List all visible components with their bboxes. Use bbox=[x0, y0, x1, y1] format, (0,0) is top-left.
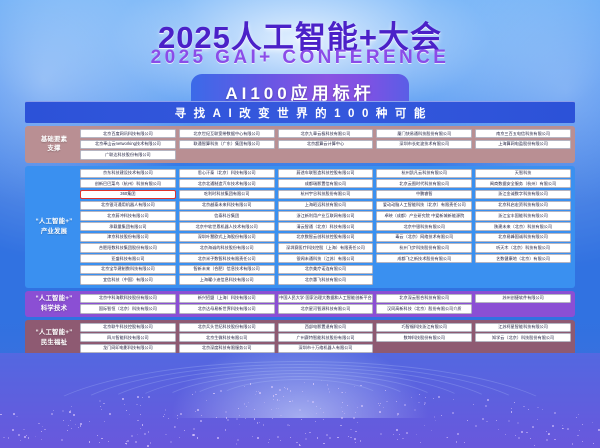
category-label-line1: “人工智能+” bbox=[35, 328, 72, 338]
company-cell[interactable]: 天智科技 bbox=[475, 169, 571, 178]
company-cell[interactable]: 北京数智云创科技控股有限公司 bbox=[278, 233, 374, 242]
company-cell[interactable]: 北京深云智合科技有限公司 bbox=[376, 294, 472, 303]
category-label-line2: 产业发展 bbox=[41, 227, 67, 237]
globe-footer bbox=[0, 353, 600, 448]
company-cell[interactable]: 上海曜小迪信息科技有限公司 bbox=[179, 275, 275, 284]
conference-title-en: 2025 GAI+ CONFERENCE bbox=[0, 47, 600, 69]
category-label-industry: “人工智能+”产业发展 bbox=[28, 169, 80, 285]
company-cell[interactable]: 京东科技建设技术有限公司 bbox=[80, 169, 176, 178]
company-cell-empty bbox=[475, 304, 571, 313]
company-cell[interactable]: 北京中科海默科技股份有限公司 bbox=[80, 294, 176, 303]
company-cell[interactable]: 广州赛特智能科技股份有限公司 bbox=[278, 333, 374, 342]
company-cell[interactable]: 合肥阳数科技集团股份有限公司 bbox=[80, 243, 176, 252]
company-cell-empty bbox=[475, 150, 571, 159]
company-column: 西部电影置退有限公司广州赛特智能科技股份有限公司深圳市十万络机器人有限公司 bbox=[278, 323, 374, 354]
company-cell[interactable]: 深圳市十万络机器人有限公司 bbox=[278, 344, 374, 353]
company-cell[interactable]: 西部电影置退有限公司 bbox=[278, 323, 374, 332]
company-cell[interactable]: 新兴招盟（上海）科技有限公司 bbox=[179, 294, 275, 303]
company-column: 蔚途车联智造科技控股有限公司成都瑞影置信有限公司杭州宇谷科技股份有限公司上海昭远… bbox=[278, 169, 374, 285]
company-column: 思心汗泰（北京）科技有限公司北京北通制造汽车技术有限公司吃利时科技集团有限公司北… bbox=[179, 169, 275, 285]
company-cell[interactable]: 北京生微科技有限公司 bbox=[179, 333, 275, 342]
company-cell[interactable]: 卓映（成都）产业研究院 中爱新城新能源院 bbox=[376, 211, 472, 220]
company-column: 北京百度网讯科技有限公司北京奉山云networking技术有限公司广联达科技股份… bbox=[80, 129, 176, 160]
category-label-welfare: “人工智能+”民生福祉 bbox=[28, 323, 80, 354]
company-cell-highlighted[interactable]: 360集团 bbox=[80, 190, 176, 199]
company-cell[interactable]: 北京奉山云networking技术有限公司 bbox=[80, 140, 176, 149]
globe-dot bbox=[598, 429, 600, 431]
company-cell[interactable]: 北京达母易新世界科技有限公司 bbox=[179, 304, 275, 313]
globe-dot bbox=[0, 414, 2, 416]
globe-dot bbox=[28, 437, 30, 439]
company-cell[interactable]: 广联达科技股份有限公司 bbox=[80, 150, 176, 159]
company-cell[interactable]: 陕建未来（北京）科技有限公司 bbox=[475, 222, 571, 231]
category-row-science: “人工智能+”科学技术北京中科海默科技股份有限公司国际智恒（北京）科技有限公司新… bbox=[25, 291, 575, 317]
company-cell[interactable]: 北京云图时代科技有限公司 bbox=[376, 179, 472, 188]
company-cell[interactable]: 浙江金诚数字科技有限公司 bbox=[475, 190, 571, 199]
company-column: 北京兵头世纪科技股份有限公司北京生微科技有限公司北京深度科技有限服务公司 bbox=[179, 323, 275, 354]
company-cell[interactable]: 毒云（北京）网络技术有限公司 bbox=[376, 233, 472, 242]
company-cell[interactable]: 清云智通（北京）科技有限公司 bbox=[278, 222, 374, 231]
company-column: 厦门快易通科技股份有限公司深圳市长虹波技术有限公司 bbox=[376, 129, 472, 160]
globe-dot bbox=[16, 416, 18, 418]
company-cell[interactable]: 北京联牛科技控股有限公司 bbox=[80, 323, 176, 332]
company-column: 苏州创捷软件有限公司 bbox=[475, 294, 571, 314]
company-cell[interactable]: 智新未来（合肥）信息技术有限公司 bbox=[179, 265, 275, 274]
category-label-line2: 支撑 bbox=[47, 144, 60, 154]
company-column: 北京中科海默科技股份有限公司国际智恒（北京）科技有限公司 bbox=[80, 294, 176, 314]
company-cell[interactable]: 北京美疗诺连有限公司 bbox=[278, 265, 374, 274]
category-columns-science: 北京中科海默科技股份有限公司国际智恒（北京）科技有限公司新兴招盟（上海）科技有限… bbox=[80, 294, 571, 314]
company-cell[interactable]: 银闻未通科技（江苏）有限公司 bbox=[278, 254, 374, 263]
company-cell-empty bbox=[376, 150, 472, 159]
company-cell[interactable]: 闽商数据安全服务（杭州）有限公司 bbox=[475, 179, 571, 188]
company-column: 北京世纪互联宽带数据中心有限公司联通智算科技（广东）集团有限公司 bbox=[179, 129, 275, 160]
company-cell[interactable]: 成都飞之新技术股份有限公司 bbox=[376, 254, 472, 263]
company-cell[interactable]: 江苏柯星智能科技有限公司 bbox=[475, 323, 571, 332]
category-label-line1: “人工智能+” bbox=[35, 294, 72, 304]
company-cell[interactable]: 宜信科技（中国）有限公司 bbox=[80, 275, 176, 284]
company-cell[interactable]: 北京银河通用机器人有限公司 bbox=[80, 201, 176, 210]
company-cell[interactable]: 上海算网电盈股份有限公司 bbox=[475, 140, 571, 149]
company-cell[interactable]: 艺数健康地（北京）有限公司 bbox=[475, 254, 571, 263]
company-cell[interactable]: 北京中软世恩机器人技术有限公司 bbox=[179, 222, 275, 231]
company-column: 京东科技建设技术有限公司创新巴巴菜鸟（杭州）科技有限公司360集团北京银河通用机… bbox=[80, 169, 176, 285]
company-cell[interactable]: 深圳市长虹波技术有限公司 bbox=[376, 140, 472, 149]
company-cell[interactable]: 杭州凯凡云科技有限公司 bbox=[376, 169, 472, 178]
company-cell[interactable]: 北京越泰未来科技有限公司 bbox=[179, 201, 275, 210]
company-cell[interactable]: 吃利时科技集团有限公司 bbox=[179, 190, 275, 199]
company-column: 杭州凯凡云科技有限公司北京云图时代科技有限公司中鹏睿智爱动动脑人工智能科技（北京… bbox=[376, 169, 472, 285]
company-cell[interactable]: 北京深度科技有限服务公司 bbox=[179, 344, 275, 353]
globe-dot bbox=[582, 441, 583, 442]
company-cell[interactable]: 北京易峰国诚科技有限公司 bbox=[475, 233, 571, 242]
company-cell[interactable]: 信泰科谷集团 bbox=[179, 211, 275, 220]
company-cell[interactable]: 北京宝华建制数科技有限公司 bbox=[80, 265, 176, 274]
company-cell-empty bbox=[278, 150, 374, 159]
company-cell[interactable]: 北京海诚的科技股份有限公司 bbox=[179, 243, 275, 252]
company-cell[interactable]: 南京三百五电信科技有限公司 bbox=[475, 129, 571, 138]
company-cell-empty bbox=[376, 344, 472, 353]
category-columns-foundation: 北京百度网讯科技有限公司北京奉山云networking技术有限公司广联达科技股份… bbox=[80, 129, 571, 160]
company-column: 北京联牛科技控股有限公司四川智能科技有限公司龙门网印电影科技有限公司 bbox=[80, 323, 176, 354]
company-cell[interactable]: 厦门快易通科技股份有限公司 bbox=[376, 129, 472, 138]
category-label-science: “人工智能+”科学技术 bbox=[28, 294, 80, 314]
company-column: 江苏柯星智能科技有限公司知学云（北京）科技股份有限公司 bbox=[475, 323, 571, 354]
company-cell[interactable]: 北京百度网讯科技有限公司 bbox=[80, 129, 176, 138]
category-row-foundation: 基础要素支撑北京百度网讯科技有限公司北京奉山云networking技术有限公司广… bbox=[25, 126, 575, 163]
company-cell[interactable]: 思心汗泰（北京）科技有限公司 bbox=[179, 169, 275, 178]
company-cell[interactable]: 联通智算科技（广东）集团有限公司 bbox=[179, 140, 275, 149]
company-cell[interactable]: 龙门网印电影科技有限公司 bbox=[80, 344, 176, 353]
company-cell[interactable]: 杭州飞步科技股份有限公司 bbox=[376, 243, 472, 252]
globe-dot bbox=[13, 413, 15, 415]
company-cell[interactable]: 深圳赛医疗科技控股（上海）有限责任公司 bbox=[278, 243, 374, 252]
company-cell[interactable]: 成都瑞影置信有限公司 bbox=[278, 179, 374, 188]
company-column: 巧智福科技浙江有限公司数坤科技股份有限公司 bbox=[376, 323, 472, 354]
company-cell[interactable]: 北京蔚冲科技有限公司 bbox=[80, 211, 176, 220]
poster-canvas: 2025人工智能+大会 2025 GAI+ CONFERENCE AI100应用… bbox=[0, 0, 600, 448]
company-cell-empty bbox=[376, 265, 472, 274]
globe-dot bbox=[18, 434, 20, 436]
company-cell-empty bbox=[475, 275, 571, 284]
company-cell[interactable]: 北京世纪互联宽带数据中心有限公司 bbox=[179, 129, 275, 138]
company-cell[interactable]: 苏州创捷软件有限公司 bbox=[475, 294, 571, 303]
company-cell[interactable]: 创新巴巴菜鸟（杭州）科技有限公司 bbox=[80, 179, 176, 188]
company-cell[interactable]: 杭州宇谷科技股份有限公司 bbox=[278, 190, 374, 199]
company-cell[interactable]: 津京科技股份有限公司 bbox=[80, 233, 176, 242]
company-cell[interactable]: 数坤科技股份有限公司 bbox=[376, 333, 472, 342]
tagline-text: 寻找AI改变世界的100种可能 bbox=[167, 105, 433, 121]
company-cell[interactable]: 中国人民大学·国家治理大数据和人工智能创新平台 bbox=[278, 294, 374, 303]
company-cell[interactable]: 承载量集团有限公司 bbox=[80, 222, 176, 231]
company-cell-empty bbox=[475, 344, 571, 353]
company-cell[interactable]: 深圳叶慧欧式上海股份有限公司 bbox=[179, 233, 275, 242]
company-cell[interactable]: 北京超算云计算中心 bbox=[278, 140, 374, 149]
company-cell[interactable]: 北京北通制造汽车技术有限公司 bbox=[179, 179, 275, 188]
company-cell-empty bbox=[376, 275, 472, 284]
company-cell[interactable]: 中鹏睿智 bbox=[376, 190, 472, 199]
company-cell[interactable]: 北京兵头世纪科技股份有限公司 bbox=[179, 323, 275, 332]
company-cell[interactable]: 听天木（北京）科技有限公司 bbox=[475, 243, 571, 252]
company-column: 中国人民大学·国家治理大数据和人工智能创新平台北京星河智源科技有限公司 bbox=[278, 294, 374, 314]
company-cell[interactable]: 北京惠飞科技有限公司 bbox=[278, 275, 374, 284]
company-cell[interactable]: 汉同高新科技（北京）股份有限公司介质 bbox=[376, 304, 472, 313]
company-cell[interactable]: 北京科启宏资科技有限公司 bbox=[475, 201, 571, 210]
category-label-line1: 基础要素 bbox=[41, 135, 67, 145]
company-column: 天智科技闽商数据安全服务（杭州）有限公司浙江金诚数字科技有限公司北京科启宏资科技… bbox=[475, 169, 571, 285]
category-label-line1: “人工智能+” bbox=[35, 217, 72, 227]
company-cell[interactable]: 巧智福科技浙江有限公司 bbox=[376, 323, 472, 332]
category-row-welfare: “人工智能+”民生福祉北京联牛科技控股有限公司四川智能科技有限公司龙门网印电影科… bbox=[25, 320, 575, 357]
company-cell[interactable]: 爱动动脑人工智能科技（北京）有限责任公司 bbox=[376, 201, 472, 210]
category-columns-industry: 京东科技建设技术有限公司创新巴巴菜鸟（杭州）科技有限公司360集团北京银河通用机… bbox=[80, 169, 571, 285]
poster-header: 2025人工智能+大会 2025 GAI+ CONFERENCE AI100应用… bbox=[0, 0, 600, 126]
category-label-foundation: 基础要素支撑 bbox=[28, 129, 80, 160]
category-columns-welfare: 北京联牛科技控股有限公司四川智能科技有限公司龙门网印电影科技有限公司北京兵头世纪… bbox=[80, 323, 571, 354]
company-cell[interactable]: 国际智恒（北京）科技有限公司 bbox=[80, 304, 176, 313]
company-cell[interactable]: 知学云（北京）科技股份有限公司 bbox=[475, 333, 571, 342]
category-label-line2: 科学技术 bbox=[41, 304, 67, 314]
company-cell[interactable]: 北京星河智源科技有限公司 bbox=[278, 304, 374, 313]
company-cell[interactable]: 北京米子数智科技有限责任公司 bbox=[179, 254, 275, 263]
globe-dot bbox=[24, 436, 26, 438]
company-column: 新兴招盟（上海）科技有限公司北京达母易新世界科技有限公司 bbox=[179, 294, 275, 314]
company-cell-empty bbox=[179, 150, 275, 159]
company-column: 南京三百五电信科技有限公司上海算网电盈股份有限公司 bbox=[475, 129, 571, 160]
category-label-line2: 民生福祉 bbox=[41, 338, 67, 348]
category-row-industry: “人工智能+”产业发展京东科技建设技术有限公司创新巴巴菜鸟（杭州）科技有限公司3… bbox=[25, 166, 575, 288]
company-cell[interactable]: 亚盛科技有限公司 bbox=[80, 254, 176, 263]
company-cell[interactable]: 浙江宝丰国能科技有限公司 bbox=[475, 211, 571, 220]
company-cell-empty bbox=[475, 265, 571, 274]
company-column: 北京深云智合科技有限公司汉同高新科技（北京）股份有限公司介质 bbox=[376, 294, 472, 314]
tagline-bar: 寻找AI改变世界的100种可能 bbox=[25, 101, 575, 123]
company-column: 北京九章云极科技有限公司北京超算云计算中心 bbox=[278, 129, 374, 160]
globe-dot bbox=[578, 414, 579, 415]
company-cell[interactable]: 北京九章云极科技有限公司 bbox=[278, 129, 374, 138]
globe-dot bbox=[12, 429, 14, 431]
globe-dot bbox=[26, 435, 27, 436]
company-cell[interactable]: 四川智能科技有限公司 bbox=[80, 333, 176, 342]
company-cell[interactable]: 北京中银科技有限公司 bbox=[376, 222, 472, 231]
company-cell[interactable]: 浙江新利用产业互联网有限公司 bbox=[278, 211, 374, 220]
company-cell[interactable]: 上海昭远科技有限公司 bbox=[278, 201, 374, 210]
company-cell[interactable]: 蔚途车联智造科技控股有限公司 bbox=[278, 169, 374, 178]
